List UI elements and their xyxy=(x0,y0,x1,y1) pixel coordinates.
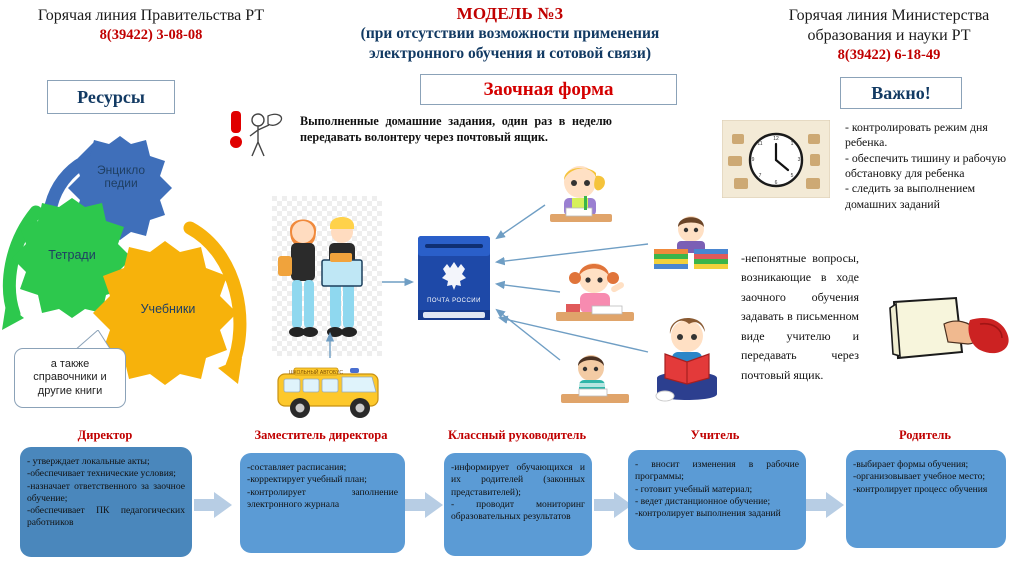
role-title-4: Родитель xyxy=(840,428,1010,443)
role-2-item-0: -информирует обучающихся и их родителей … xyxy=(451,462,585,499)
important-item-1: - обеспечить тишину и рабочую обстановку… xyxy=(845,151,1020,182)
role-3-item-1: - готовит учебный материал; xyxy=(635,484,799,496)
role-box-4: -выбирает формы обучения; -организовывае… xyxy=(846,450,1006,548)
role-title-2: Классный руководитель xyxy=(422,428,612,443)
role-0-item-2: -назначает ответственного за заочное обу… xyxy=(27,481,185,506)
important-item-0: - контролировать режим дня ребенка. xyxy=(845,120,1020,151)
role-1-item-1: -корректирует учебный план; xyxy=(247,474,398,486)
role-3-item-3: -контролирует выполнения заданий xyxy=(635,508,799,520)
role-0-item-1: -обеспечивает технические условия; xyxy=(27,468,185,480)
role-3-item-2: - ведет дистанционное обучение; xyxy=(635,496,799,508)
role-title-3: Учитель xyxy=(630,428,800,443)
role-title-0: Директор xyxy=(20,428,190,443)
role-0-item-0: - утверждает локальные акты; xyxy=(27,456,185,468)
role-box-2: -информирует обучающихся и их родителей … xyxy=(444,453,592,556)
role-1-item-0: -составляет расписания; xyxy=(247,462,398,474)
important-list: - контролировать режим дня ребенка. - об… xyxy=(845,120,1020,212)
questions-text: -непонятные вопросы, возникающие в ходе … xyxy=(741,249,859,385)
role-arrow-1 xyxy=(405,492,445,518)
role-box-1: -составляет расписания; -корректирует уч… xyxy=(240,453,405,553)
role-box-3: - вносит изменения в рабочие программы; … xyxy=(628,450,806,550)
role-title-1: Заместитель директора xyxy=(232,428,410,443)
role-4-item-1: -организовывает учебное место; xyxy=(853,471,999,483)
role-0-item-3: -обеспечивает ПК педагогических работник… xyxy=(27,505,185,530)
role-arrow-3 xyxy=(806,492,846,518)
role-4-item-0: -выбирает формы обучения; xyxy=(853,459,999,471)
role-4-item-2: -контролирует процесс обучения xyxy=(853,484,999,496)
role-arrow-0 xyxy=(194,492,234,518)
role-box-0: - утверждает локальные акты; -обеспечива… xyxy=(20,447,192,557)
role-3-item-0: - вносит изменения в рабочие программы; xyxy=(635,459,799,484)
role-2-item-1: - проводит мониторинг образовательных ре… xyxy=(451,499,585,524)
role-1-item-2: -контролирует заполнение электронного жу… xyxy=(247,487,398,512)
important-item-2: - следить за выполнением домашних задани… xyxy=(845,181,1020,212)
